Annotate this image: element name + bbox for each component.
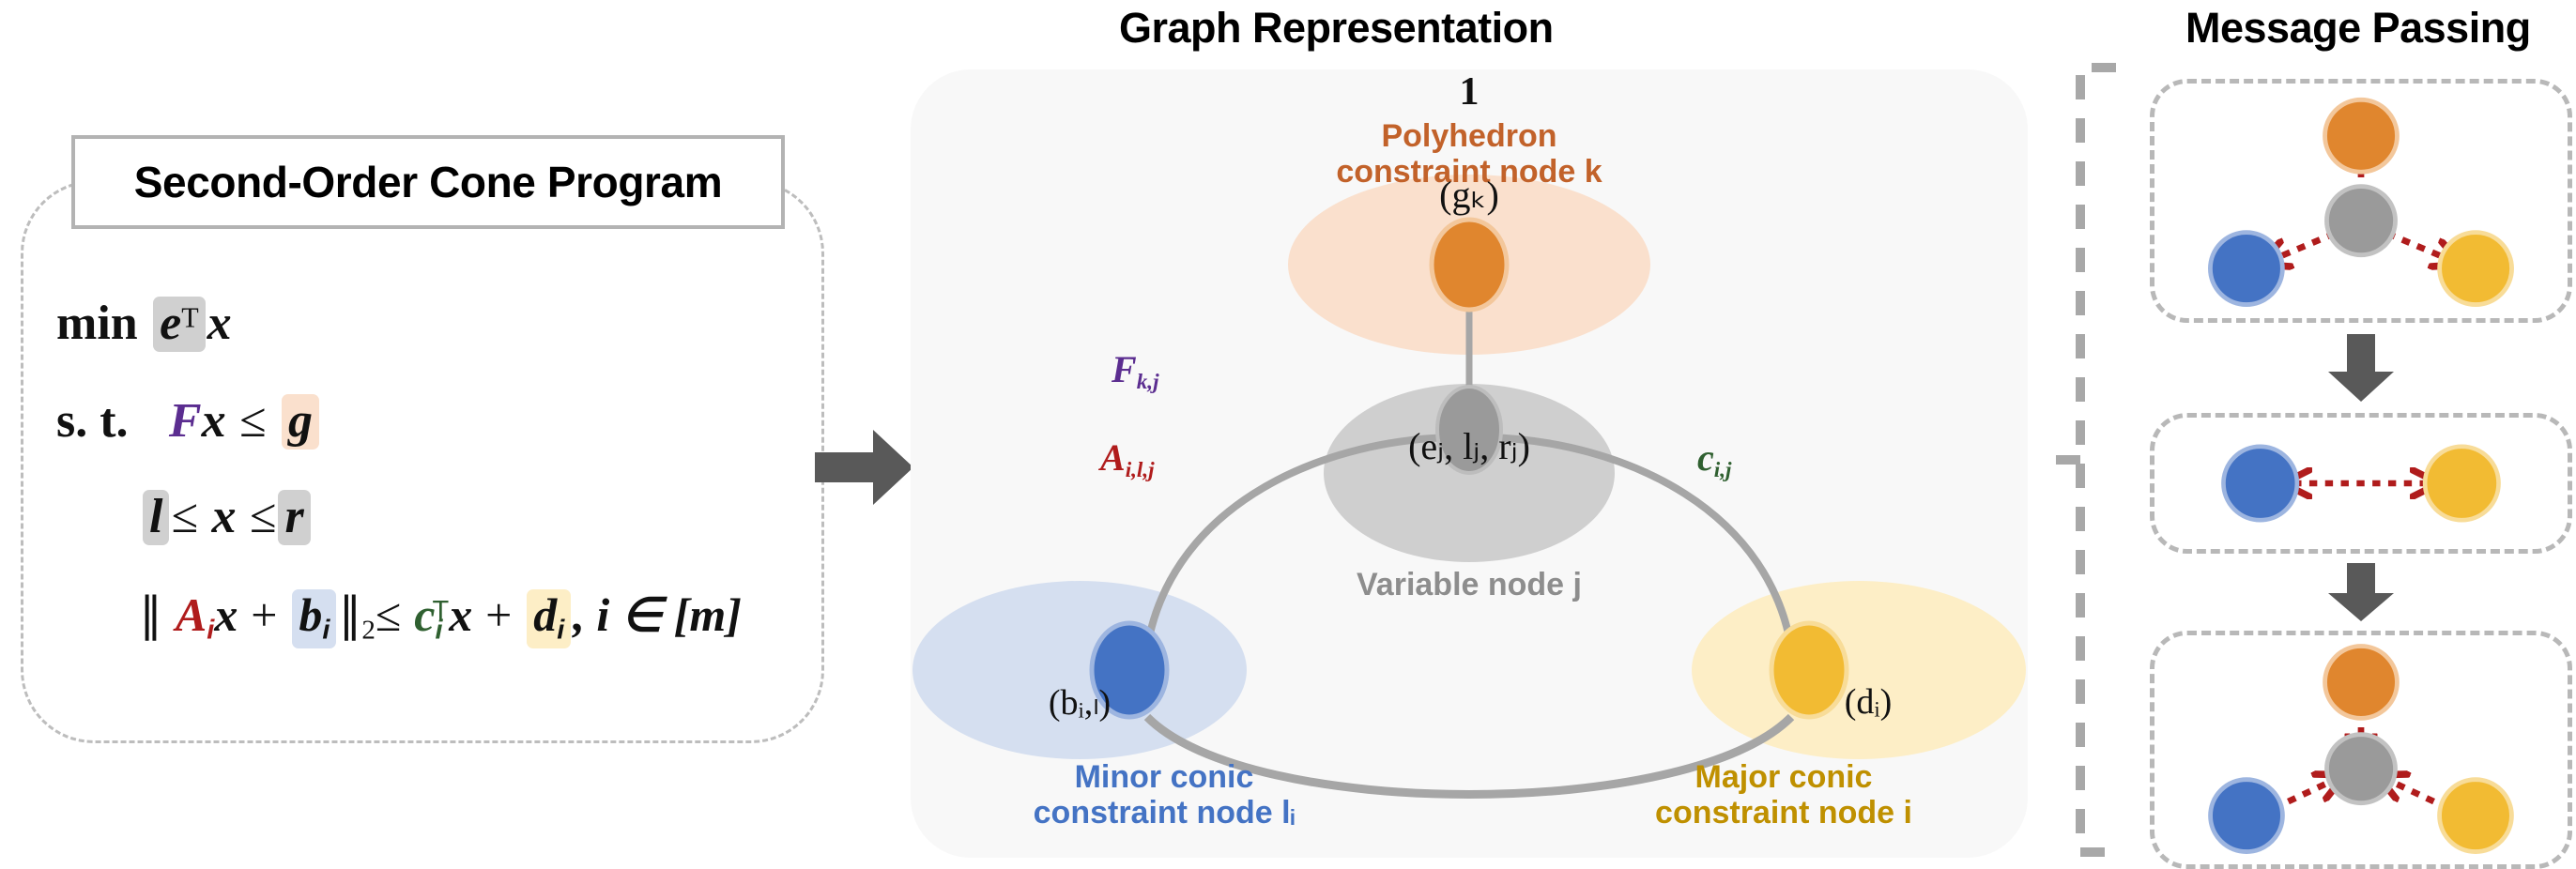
socp-dashed-container — [21, 180, 824, 743]
equation-box-constraint: l≤ x ≤r — [141, 490, 313, 545]
major-conic-node-halo — [1692, 581, 2026, 759]
message-passing-step-2-diagram — [2154, 418, 2568, 549]
leq-symbol-2: ≤ — [171, 490, 198, 543]
edge-label-c-sub: i,j — [1714, 458, 1732, 482]
mp3-polyhedron-node — [2325, 647, 2398, 719]
vector-d-subscript: i — [557, 616, 564, 646]
mp1-polyhedron-node — [2325, 99, 2398, 172]
min-operator: min — [56, 297, 138, 350]
variable-node-label: Variable node j — [911, 567, 2028, 602]
variable-x: x — [207, 297, 232, 350]
major-conic-node-label: Major conic constraint node i — [1568, 759, 2000, 831]
vector-b-subscript: i — [322, 616, 330, 646]
mp1-major-conic-node — [2440, 233, 2512, 305]
vector-e: e — [160, 297, 181, 350]
message-passing-step-3 — [2150, 631, 2572, 869]
mp3-variable-node — [2326, 735, 2395, 803]
message-passing-step-2 — [2150, 413, 2572, 554]
vector-d: d — [533, 588, 557, 641]
vector-r: r — [284, 490, 303, 543]
vector-g-highlight: g — [282, 394, 319, 450]
minor-conic-node-halo — [912, 581, 1247, 759]
variable-x-2: x — [202, 394, 226, 448]
edge-label-F: Fk,j — [1112, 347, 1159, 395]
edge-label-A-sub: i,l,j — [1126, 458, 1155, 482]
equation-cone-constraint: ∥ Aix + bi∥2≤ ciTx + di, i ∈ [m] — [139, 589, 742, 648]
flow-arrow-down-icon-1 — [2328, 334, 2394, 402]
subject-to-operator: s. t. — [56, 394, 129, 448]
matrix-A: A — [176, 588, 207, 641]
mp1-variable-node — [2326, 187, 2395, 255]
mp1-minor-conic-node — [2210, 233, 2282, 305]
vector-e-highlight: eT — [153, 297, 206, 352]
vector-l: l — [149, 490, 162, 543]
minor-conic-node-label: Minor conic constraint node lᵢ — [948, 759, 1380, 831]
polyhedron-node-circle — [1432, 220, 1507, 310]
plus-symbol-2: + — [485, 588, 512, 641]
norm-open-symbol: ∥ — [139, 588, 162, 641]
edge-label-A-base: A — [1100, 436, 1126, 479]
socp-title-box: Second-Order Cone Program — [71, 135, 785, 229]
mp2-major-conic-node — [2425, 447, 2498, 520]
edge-label-F-sub: k,j — [1137, 370, 1159, 394]
variable-x-3: x — [211, 490, 236, 543]
variable-x-4: x — [214, 588, 238, 641]
socp-title: Second-Order Cone Program — [134, 157, 722, 207]
vector-b-highlight: bi — [292, 589, 336, 648]
bracket-connector-icon — [2052, 62, 2124, 858]
minor-label-line2: constraint node lᵢ — [1034, 795, 1296, 831]
equation-polyhedron-constraint: s. t. Fx ≤ g — [56, 394, 321, 450]
major-conic-node-value: (dᵢ) — [1784, 681, 1953, 723]
matrix-F: F — [169, 394, 202, 448]
norm-close-symbol: ∥ — [338, 588, 361, 641]
mp3-major-conic-node — [2440, 780, 2512, 852]
transition-arrow-icon — [815, 430, 913, 505]
vector-c-transpose: T — [433, 596, 450, 626]
vector-r-highlight: r — [278, 490, 310, 545]
leq-symbol-4: ≤ — [376, 588, 401, 641]
flow-arrow-down-icon-2 — [2328, 563, 2394, 621]
message-passing-step-3-diagram — [2154, 635, 2568, 864]
major-label-line2: constraint node i — [1655, 795, 1912, 831]
polyhedron-label-line1: Polyhedron — [1381, 118, 1556, 154]
graph-representation-title: Graph Representation — [1119, 4, 1554, 53]
norm-order-subscript: 2 — [361, 616, 376, 646]
minor-label-line1: Minor conic — [1075, 759, 1254, 795]
vector-b: b — [299, 588, 322, 641]
edge-label-F-base: F — [1112, 348, 1137, 390]
message-passing-title: Message Passing — [2185, 4, 2531, 53]
polyhedron-node-value: (gₖ) — [911, 173, 2028, 217]
variable-node-value: (eⱼ, lⱼ, rⱼ) — [911, 424, 2028, 468]
graph-representation-panel: Polyhedron constraint node k Variable no… — [911, 69, 2028, 858]
leq-symbol-3: ≤ — [250, 490, 277, 543]
vector-d-highlight: di — [527, 589, 571, 648]
vector-g: g — [288, 394, 313, 448]
plus-symbol-1: + — [251, 588, 277, 641]
minor-conic-node-value: (bᵢ,ₗ) — [995, 681, 1164, 724]
message-passing-step-1-diagram — [2154, 84, 2568, 318]
mp2-minor-conic-node — [2223, 447, 2296, 520]
index-range-text: , i ∈ [m] — [573, 588, 742, 641]
edge-label-c: ci,j — [1697, 435, 1731, 483]
message-passing-step-1 — [2150, 79, 2572, 323]
leq-symbol-1: ≤ — [239, 394, 267, 448]
edge-label-c-base: c — [1697, 436, 1714, 479]
mp3-minor-conic-node — [2211, 780, 2283, 852]
edge-label-A: Ai,l,j — [1100, 435, 1155, 483]
variable-x-5: x — [449, 588, 472, 641]
vector-l-highlight: l — [143, 490, 169, 545]
equation-objective: min eTx — [56, 297, 232, 352]
transpose-symbol: T — [181, 301, 198, 333]
major-label-line1: Major conic — [1695, 759, 1873, 795]
